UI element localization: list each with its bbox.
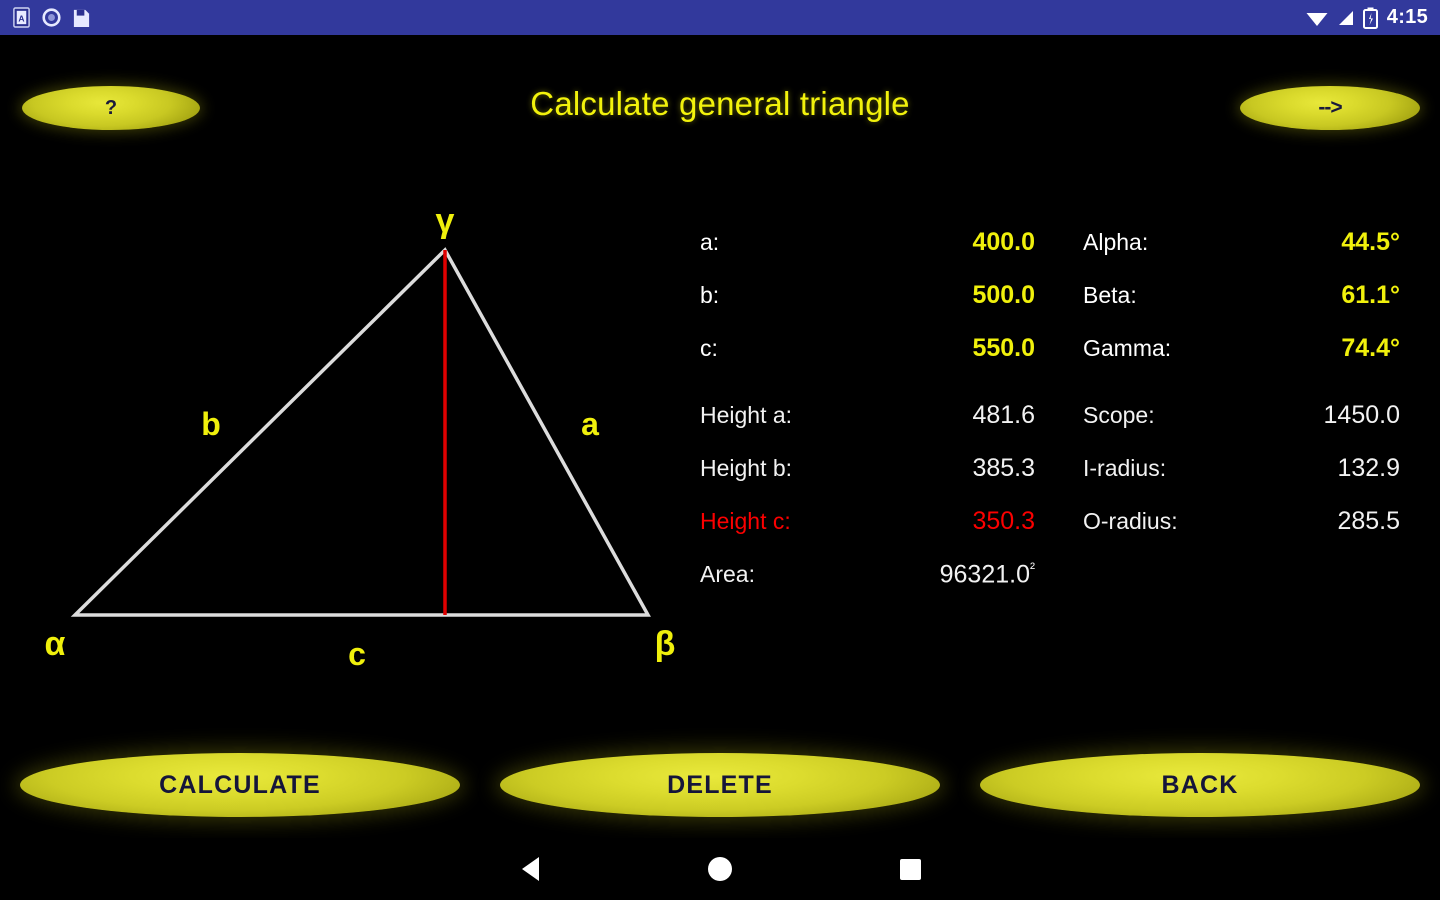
row-label-c: c: [700,335,900,362]
row-value-b: 500.0 [900,281,1035,310]
battery-icon [1363,7,1378,29]
row-label-height-b: Height b: [700,455,900,482]
vertex-label-alpha: α [45,625,66,663]
table-row: a: 400.0 Alpha: 44.5° [700,228,1440,281]
row-value-beta: 61.1° [1250,281,1400,310]
table-row: Height a: 481.6 Scope: 1450.0 [700,401,1440,454]
row-value-scope: 1450.0 [1250,401,1400,430]
side-label-a: a [581,406,599,442]
row-label-a: a: [700,229,900,256]
wifi-icon [1305,8,1329,28]
row-value-area: 96321.0² [900,560,1035,589]
row-value-o-radius: 285.5 [1250,507,1400,536]
row-label-gamma: Gamma: [1035,335,1250,362]
table-row: Height b: 385.3 I-radius: 132.9 [700,454,1440,507]
app-notification-icon: A [12,7,31,28]
area-number: 96321.0 [940,560,1030,588]
table-row: Height c: 350.3 O-radius: 285.5 [700,507,1440,560]
status-clock: 4:15 [1387,6,1428,29]
delete-button[interactable]: DELETE [500,753,940,817]
results-table: a: 400.0 Alpha: 44.5° b: 500.0 Beta: 61.… [700,228,1440,613]
row-label-height-a: Height a: [700,402,900,429]
triangle-diagram: γ α β b a c [0,110,700,690]
triangle-outline [75,250,648,615]
vertex-label-gamma: γ [436,202,455,240]
save-icon [72,7,91,28]
table-row: c: 550.0 Gamma: 74.4° [700,334,1440,401]
action-button-row: CALCULATE DELETE BACK [0,753,1440,825]
side-label-c: c [348,636,366,672]
android-status-bar: A 4:15 [0,0,1440,35]
row-label-scope: Scope: [1035,402,1250,429]
row-value-a: 400.0 [900,228,1035,257]
calculate-button[interactable]: CALCULATE [20,753,460,817]
nav-recents-icon [900,859,921,880]
table-row: Area: 96321.0² [700,560,1440,613]
record-icon [42,7,61,28]
area-unit-superscript: ² [1030,560,1035,577]
row-label-alpha: Alpha: [1035,229,1250,256]
status-notification-icons: A [12,7,91,28]
row-label-area: Area: [700,561,900,588]
row-value-gamma: 74.4° [1250,334,1400,363]
row-value-height-a: 481.6 [900,401,1035,430]
row-value-alpha: 44.5° [1250,228,1400,257]
nav-back-icon [522,857,539,881]
signal-icon [1336,8,1356,28]
row-label-i-radius: I-radius: [1035,455,1250,482]
svg-text:A: A [18,13,24,23]
nav-home-icon [708,857,732,881]
android-nav-bar [0,838,1440,900]
nav-recents-button[interactable] [830,859,990,880]
row-value-i-radius: 132.9 [1250,454,1400,483]
nav-home-button[interactable] [640,857,800,881]
status-system-icons: 4:15 [1305,6,1428,29]
next-button[interactable]: --> [1240,86,1420,130]
row-value-height-c: 350.3 [900,507,1035,536]
row-value-height-b: 385.3 [900,454,1035,483]
side-label-b: b [201,406,221,442]
row-label-o-radius: O-radius: [1035,508,1250,535]
row-value-c: 550.0 [900,334,1035,363]
row-label-beta: Beta: [1035,282,1250,309]
table-row: b: 500.0 Beta: 61.1° [700,281,1440,334]
app-root: A 4:15 [0,0,1440,900]
title-bar: ? Calculate general triangle --> [0,35,1440,107]
vertex-label-beta: β [655,625,676,663]
nav-back-button[interactable] [450,857,610,881]
back-button[interactable]: BACK [980,753,1420,817]
row-label-height-c: Height c: [700,508,900,535]
row-label-b: b: [700,282,900,309]
